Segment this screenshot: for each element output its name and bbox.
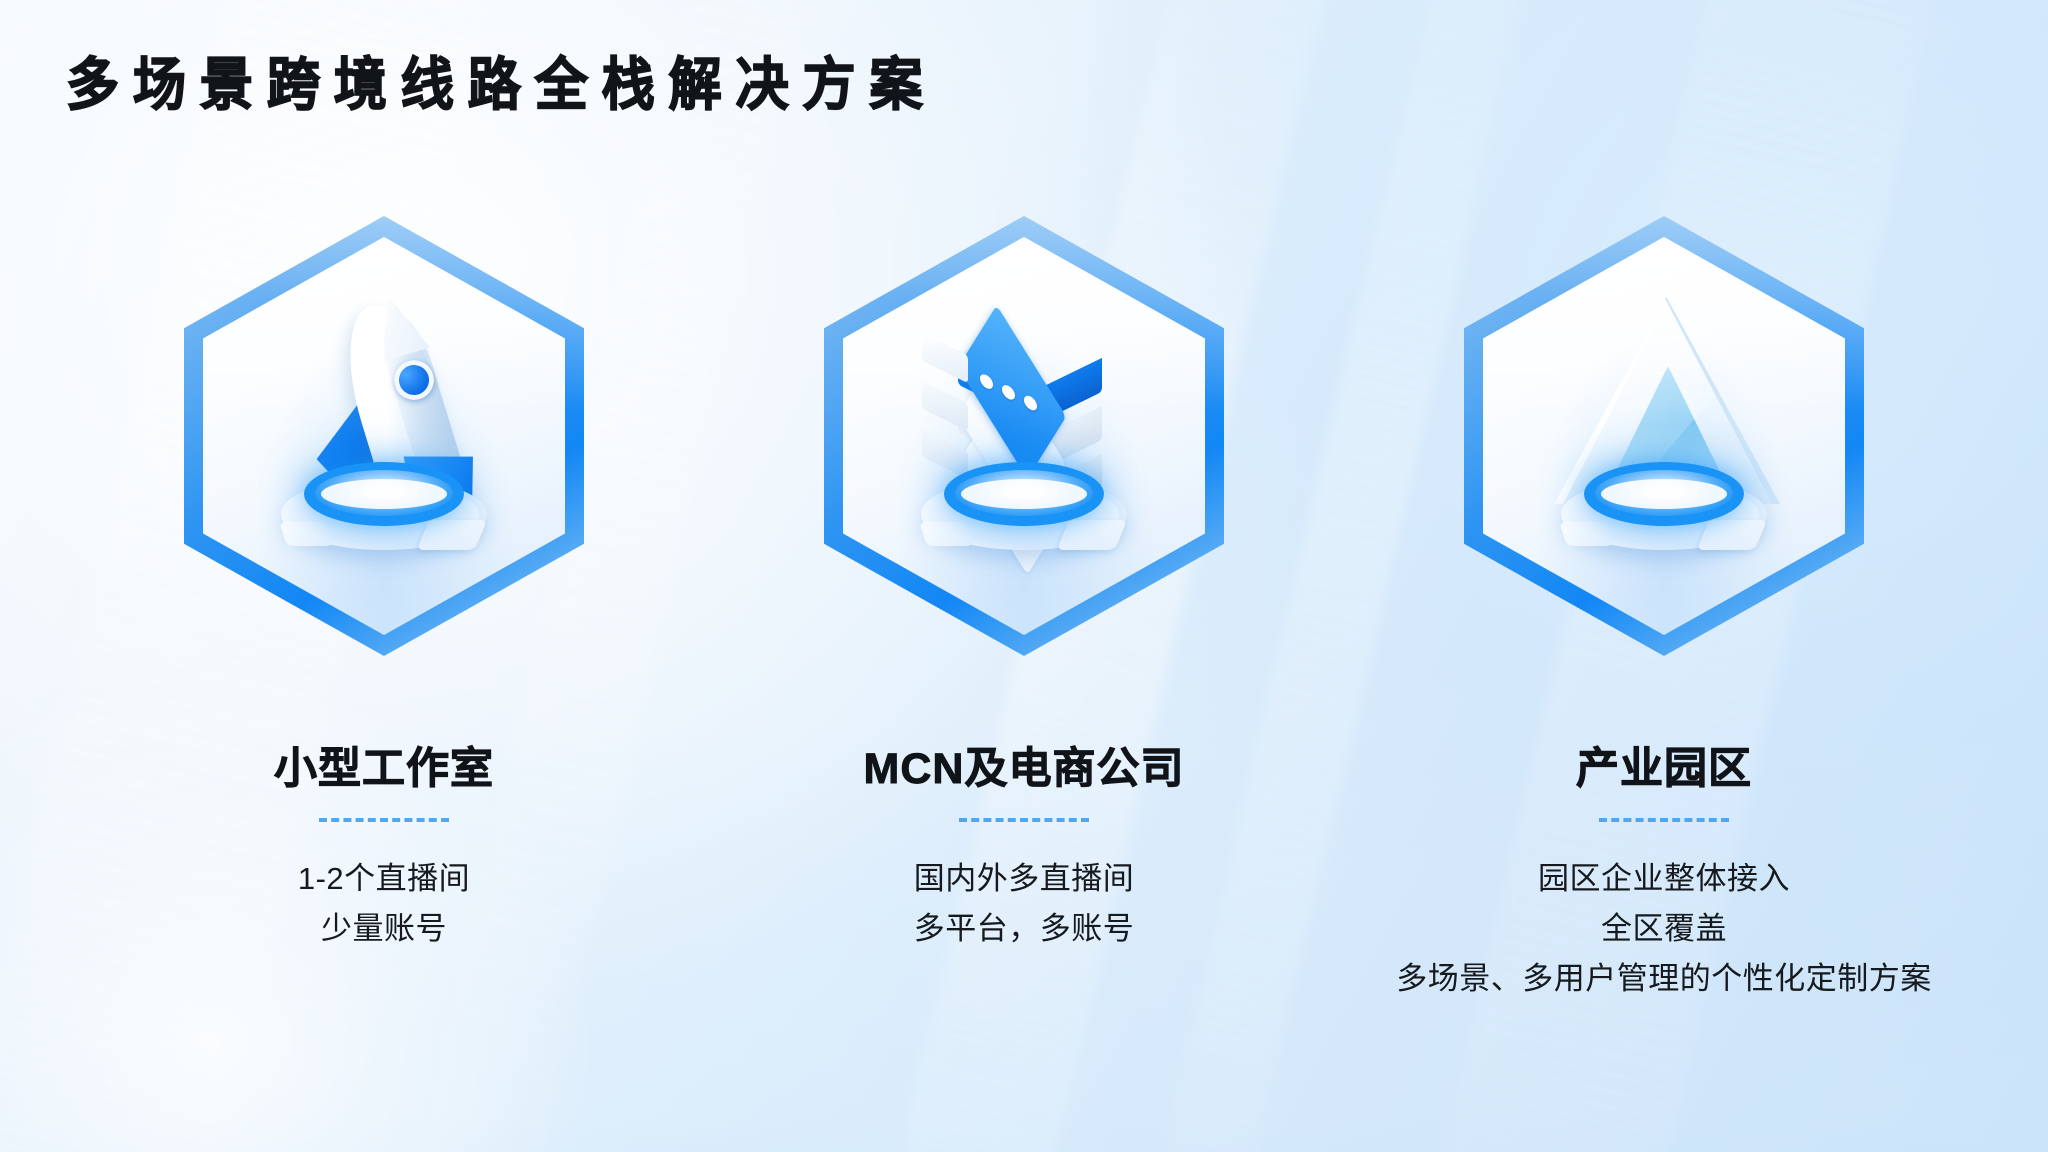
card-body: 1-2个直播间 少量账号 (298, 854, 470, 954)
card-body-line: 多场景、多用户管理的个性化定制方案 (1396, 954, 1932, 1004)
platform-notch-right (417, 520, 487, 550)
card-heading: 小型工作室 (274, 734, 494, 796)
solution-card[interactable]: MCN及电商公司 国内外多直播间 多平台，多账号 (704, 216, 1344, 954)
card-body-line: 园区企业整体接入 (1396, 854, 1932, 904)
solution-card[interactable]: 小型工作室 1-2个直播间 少量账号 (64, 216, 704, 954)
glow-ring-platform (281, 458, 487, 550)
platform-ring-highlight (955, 470, 1093, 516)
card-body-line: 少量账号 (298, 904, 470, 954)
card-body-line: 1-2个直播间 (298, 854, 470, 904)
icon-stage (1483, 237, 1845, 635)
server-stack-icon (874, 286, 1174, 586)
card-divider (959, 818, 1089, 822)
platform-notch-left (919, 522, 973, 546)
hexagon-badge (824, 216, 1224, 656)
card-heading: 产业园区 (1576, 734, 1752, 796)
glass-pyramid-icon (1514, 286, 1814, 586)
icon-stage (203, 237, 565, 635)
solution-card-row: 小型工作室 1-2个直播间 少量账号 (0, 216, 2048, 1005)
card-divider (319, 818, 449, 822)
platform-notch-right (1057, 520, 1127, 550)
platform-notch-left (1559, 522, 1613, 546)
platform-ring-highlight (315, 470, 453, 516)
icon-stage (843, 237, 1205, 635)
glow-ring-platform (921, 458, 1127, 550)
card-body-line: 全区覆盖 (1396, 904, 1932, 954)
solution-card[interactable]: 产业园区 园区企业整体接入 全区覆盖 多场景、多用户管理的个性化定制方案 (1344, 216, 1984, 1005)
card-body: 园区企业整体接入 全区覆盖 多场景、多用户管理的个性化定制方案 (1396, 854, 1932, 1005)
hexagon-badge (184, 216, 584, 656)
card-heading: MCN及电商公司 (864, 734, 1185, 796)
card-body: 国内外多直播间 多平台，多账号 (914, 854, 1135, 954)
card-body-line: 多平台，多账号 (914, 904, 1135, 954)
card-body-line: 国内外多直播间 (914, 854, 1135, 904)
page-title: 多场景跨境线路全栈解决方案 (66, 52, 936, 119)
platform-notch-right (1697, 520, 1767, 550)
glow-ring-platform (1561, 458, 1767, 550)
platform-notch-left (279, 522, 333, 546)
hexagon-badge (1464, 216, 1864, 656)
card-divider (1599, 818, 1729, 822)
platform-ring-highlight (1595, 470, 1733, 516)
rocket-icon (234, 286, 534, 586)
